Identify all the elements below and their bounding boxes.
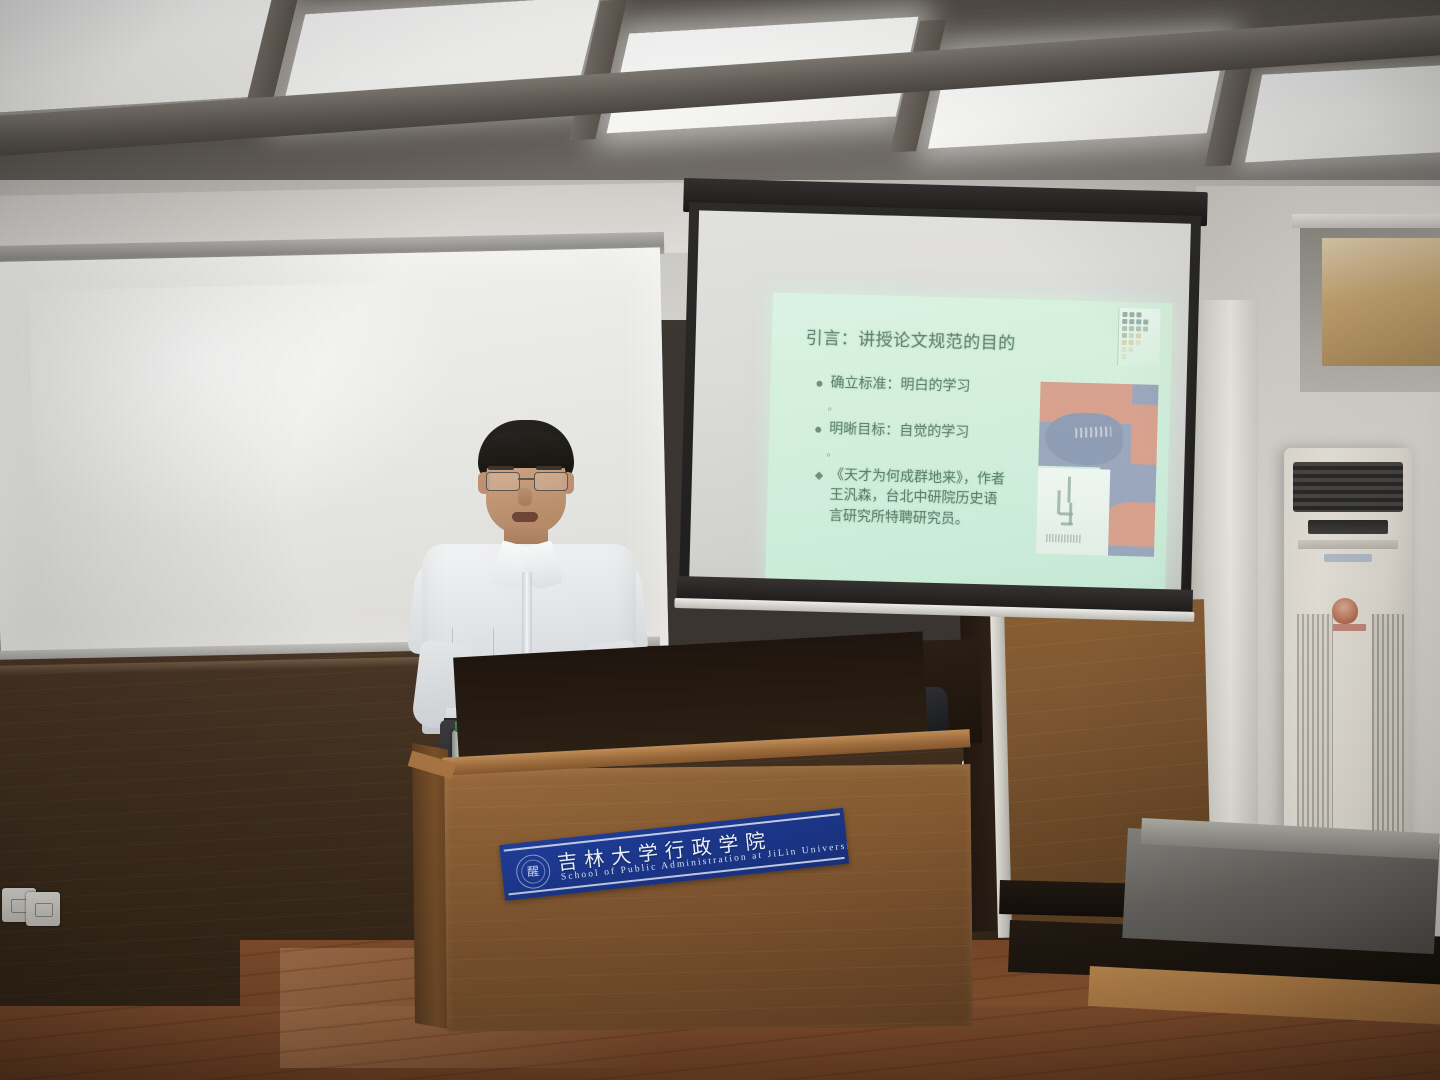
bullet-dot-icon xyxy=(816,381,822,387)
whiteboard-glare xyxy=(29,281,464,540)
slide-bullet-text: 确立标准：明白的学习 xyxy=(830,374,970,398)
ceiling-light-panel xyxy=(1245,62,1440,163)
ac-display-panel xyxy=(1308,520,1388,534)
ac-brand-logo-icon xyxy=(1324,554,1372,562)
book-cover-barcode xyxy=(1046,534,1080,543)
screen-surface: 引言：讲授论文规范的目的 确立标准：明白的学习 。 明晰目标：自觉的学习 。 《… xyxy=(689,210,1191,595)
ac-vent-grille xyxy=(1297,614,1333,846)
lecture-hall-photo: 引言：讲授论文规范的目的 确立标准：明白的学习 。 明晰目标：自觉的学习 。 《… xyxy=(0,0,1440,1080)
university-seal-icon: 醒 xyxy=(514,853,551,890)
ac-vent-grille xyxy=(1372,614,1404,840)
wall-recess-glow xyxy=(1322,238,1440,366)
slide-title: 引言：讲授论文规范的目的 xyxy=(805,323,1106,356)
bullet-diamond-icon xyxy=(815,472,823,480)
nose xyxy=(518,488,532,506)
mouth xyxy=(512,512,538,522)
projected-slide: 引言：讲授论文规范的目的 确立标准：明白的学习 。 明晰目标：自觉的学习 。 《… xyxy=(765,292,1173,593)
slide-bullet: 确立标准：明白的学习 xyxy=(816,374,1076,401)
slide-sub-mark: 。 xyxy=(826,444,836,459)
hairline xyxy=(480,432,572,468)
ac-louvers xyxy=(1293,462,1403,512)
eyebrow xyxy=(536,466,562,470)
glasses-bridge xyxy=(518,478,534,480)
ac-brand-bar xyxy=(1298,540,1398,549)
slide-bullet-text: 《天才为何成群地来》，作者王汎森，台北中研院历史语言研究所特聘研究员。 xyxy=(829,466,1007,532)
bullet-dot-icon xyxy=(815,427,821,433)
glasses-lens xyxy=(486,472,520,491)
projection-screen: 引言：讲授论文规范的目的 确立标准：明白的学习 。 明晰目标：自觉的学习 。 《… xyxy=(672,178,1208,642)
slide-bullet: 《天才为何成群地来》，作者王汎森，台北中研院历史语言研究所特聘研究员。 xyxy=(815,466,1007,532)
ac-character-sticker-icon xyxy=(1332,598,1358,624)
wall-socket[interactable] xyxy=(26,892,60,926)
slide-corner-ornament-icon xyxy=(1117,308,1161,367)
slide-content: 引言：讲授论文规范的目的 确立标准：明白的学习 。 明晰目标：自觉的学习 。 《… xyxy=(765,292,1173,593)
book-cover-handwriting xyxy=(1075,426,1111,438)
slide-sub-mark: 。 xyxy=(828,398,838,413)
book-cover-image xyxy=(1036,382,1159,557)
slide-bullet: 明晰目标：自觉的学习 xyxy=(815,420,1075,447)
podium: 醒 吉林大学行政学院 School of Public Administrati… xyxy=(414,730,973,1036)
glasses-lens xyxy=(534,472,568,491)
seal-character: 醒 xyxy=(525,863,541,880)
eyebrow xyxy=(488,466,514,470)
slide-bullet-text: 明晰目标：自觉的学习 xyxy=(829,420,969,444)
wall-recess-lip xyxy=(1292,214,1440,228)
